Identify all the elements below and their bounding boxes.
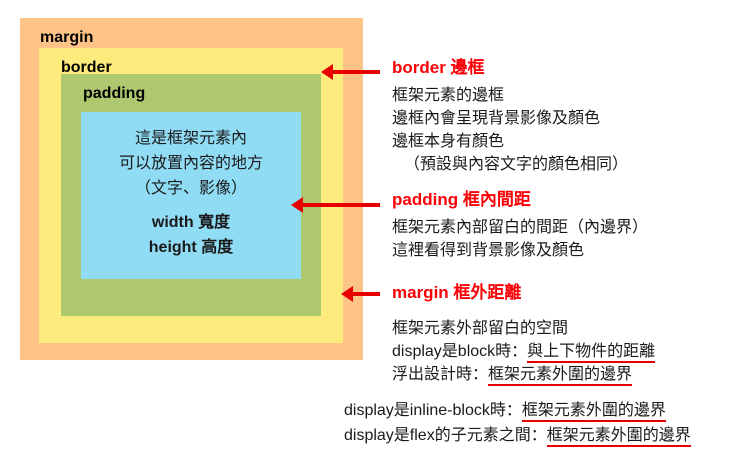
- border-annotation-heading: border 邊框: [392, 58, 628, 78]
- content-layer: 這是框架元素內 可以放置內容的地方 （文字、影像） width 寬度 heigh…: [81, 112, 301, 279]
- bottom-annotation-emphasis: 框架元素外圍的邊界: [522, 402, 666, 422]
- border-annotation-line: 邊框內會呈現背景影像及顏色: [392, 107, 628, 130]
- box-model-diagram: margin border padding 這是框架元素內 可以放置內容的地方 …: [20, 18, 363, 360]
- margin-annotation-list: 框架元素外部留白的空間 display是block時：與上下物件的距離 浮出設計…: [392, 317, 655, 386]
- margin-annotation-prefix: 浮出設計時：: [392, 366, 488, 383]
- margin-annotation-line: 浮出設計時：框架元素外圍的邊界: [392, 363, 655, 386]
- content-text-line-2: 可以放置內容的地方: [119, 151, 263, 176]
- border-pointer-arrow-icon: [332, 70, 380, 74]
- content-text-line-3: （文字、影像）: [135, 176, 247, 201]
- padding-label: padding: [83, 86, 145, 102]
- border-annotation-list: 框架元素的邊框 邊框內會呈現背景影像及顏色 邊框本身有顏色 （預設與內容文字的顏…: [392, 84, 628, 176]
- margin-annotation-line: 框架元素外部留白的空間: [392, 317, 655, 340]
- margin-annotation-line: display是block時：與上下物件的距離: [392, 340, 655, 363]
- border-annotation-section: border 邊框 框架元素的邊框 邊框內會呈現背景影像及顏色 邊框本身有顏色 …: [392, 58, 628, 176]
- padding-annotation-section: padding 框內間距 框架元素內部留白的間距（內邊界） 這裡看得到背景影像及…: [392, 190, 648, 262]
- padding-annotation-line: 這裡看得到背景影像及顏色: [392, 239, 648, 262]
- margin-label: margin: [40, 30, 93, 46]
- bottom-annotation-prefix: display是flex的子元素之間：: [344, 427, 547, 444]
- padding-annotation-list: 框架元素內部留白的間距（內邊界） 這裡看得到背景影像及顏色: [392, 216, 648, 262]
- bottom-annotation-prefix: display是inline-block時：: [344, 402, 522, 419]
- content-width-label: width 寬度: [152, 210, 230, 235]
- border-annotation-line: 框架元素的邊框: [392, 84, 628, 107]
- margin-annotation-prefix: display是block時：: [392, 343, 527, 360]
- margin-pointer-arrow-icon: [352, 292, 380, 296]
- content-height-label: height 高度: [149, 235, 233, 260]
- border-annotation-line: （預設與內容文字的顏色相同）: [392, 153, 628, 176]
- padding-pointer-arrow-icon: [302, 203, 380, 207]
- bottom-annotation-section: display是inline-block時：框架元素外圍的邊界 display是…: [344, 398, 691, 448]
- content-text-line-1: 這是框架元素內: [135, 126, 247, 151]
- padding-annotation-heading: padding 框內間距: [392, 190, 648, 210]
- margin-annotation-emphasis: 框架元素外圍的邊界: [488, 366, 632, 386]
- margin-annotation-heading: margin 框外距離: [392, 283, 655, 303]
- bottom-annotation-list: display是inline-block時：框架元素外圍的邊界 display是…: [344, 398, 691, 448]
- padding-annotation-line: 框架元素內部留白的間距（內邊界）: [392, 216, 648, 239]
- bottom-annotation-line: display是inline-block時：框架元素外圍的邊界: [344, 398, 691, 423]
- margin-annotation-emphasis: 與上下物件的距離: [527, 343, 655, 363]
- bottom-annotation-emphasis: 框架元素外圍的邊界: [547, 427, 691, 447]
- margin-annotation-section: margin 框外距離 框架元素外部留白的空間 display是block時：與…: [392, 283, 655, 386]
- bottom-annotation-line: display是flex的子元素之間：框架元素外圍的邊界: [344, 423, 691, 448]
- border-annotation-line: 邊框本身有顏色: [392, 130, 628, 153]
